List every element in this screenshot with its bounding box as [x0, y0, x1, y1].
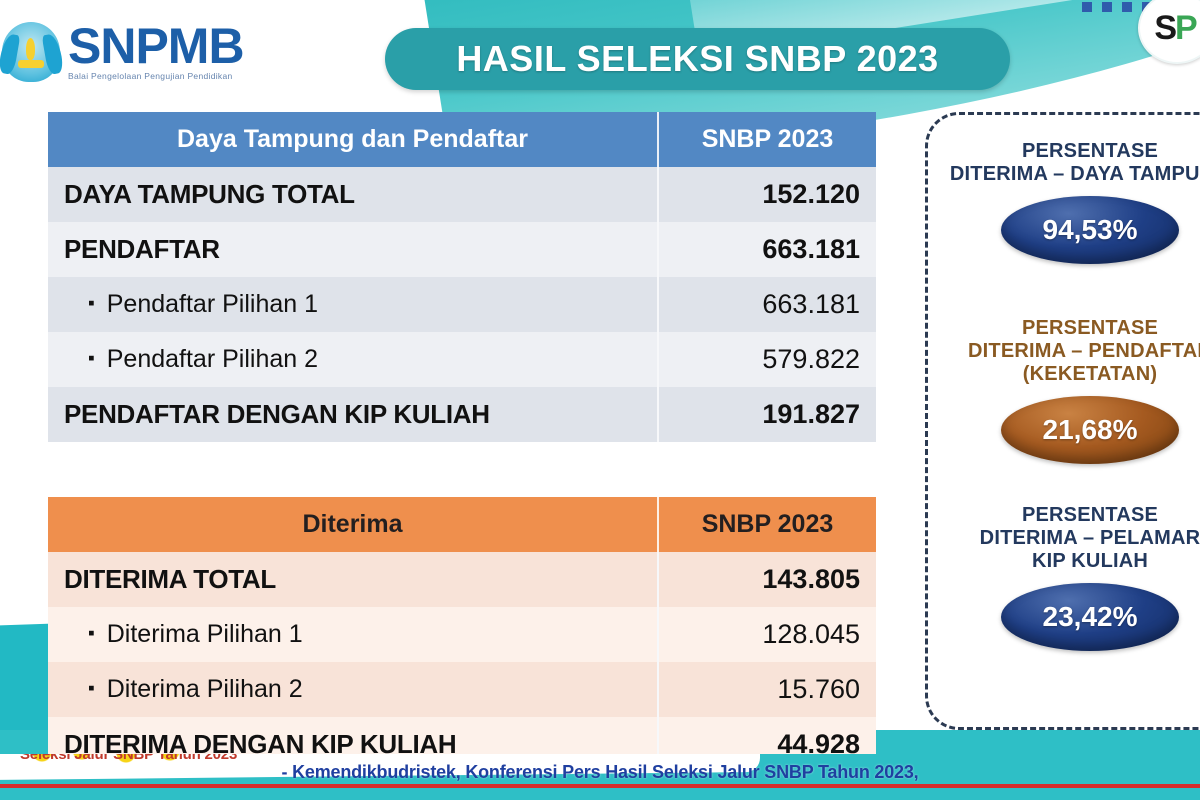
- slide-title: HASIL SELEKSI SNBP 2023: [456, 38, 938, 80]
- statistics-table: Daya Tampung dan Pendaftar SNBP 2023 DAY…: [48, 112, 876, 772]
- registration-header-label: Daya Tampung dan Pendaftar: [48, 112, 658, 167]
- kpi-caption-line1: PERSENTASE: [925, 317, 1200, 340]
- kpi-diterima-pendaftar: PERSENTASE DITERIMA – PENDAFTAR (KEKETAT…: [925, 317, 1200, 464]
- row-label: Diterima Pilihan 1: [48, 607, 658, 662]
- slide-title-banner: HASIL SELEKSI SNBP 2023: [385, 28, 1010, 90]
- table-row: DAYA TAMPUNG TOTAL 152.120: [48, 167, 876, 222]
- row-value: 15.760: [658, 662, 876, 717]
- row-value: 663.181: [658, 277, 876, 332]
- kpi-caption-line2: DITERIMA – PELAMAR: [925, 527, 1200, 550]
- row-value: 579.822: [658, 332, 876, 387]
- registration-header-value: SNBP 2023: [658, 112, 876, 167]
- kpi-value-bubble: 21,68%: [1001, 396, 1179, 464]
- kpi-value-bubble: 94,53%: [1001, 196, 1179, 264]
- kpi-caption-line2: DITERIMA – DAYA TAMPUNG: [925, 163, 1200, 186]
- row-value: 128.045: [658, 607, 876, 662]
- row-label: Pendaftar Pilihan 1: [48, 277, 658, 332]
- row-value: 152.120: [658, 167, 876, 222]
- row-label: PENDAFTAR DENGAN KIP KULIAH: [48, 387, 658, 442]
- row-label: DITERIMA TOTAL: [48, 552, 658, 607]
- table-row: PENDAFTAR 663.181: [48, 222, 876, 277]
- registration-header-row: Daya Tampung dan Pendaftar SNBP 2023: [48, 112, 876, 167]
- accepted-header-label: Diterima: [48, 497, 658, 552]
- row-label: PENDAFTAR: [48, 222, 658, 277]
- snpmb-logo: SNPMB Balai Pengelolaan Pengujian Pendid…: [0, 8, 260, 94]
- accepted-header-value: SNBP 2023: [658, 497, 876, 552]
- kpi-caption-line1: PERSENTASE: [925, 140, 1200, 163]
- row-value: 663.181: [658, 222, 876, 277]
- tutwuri-handayani-icon: [0, 18, 62, 84]
- kpi-diterima-daya-tampung: PERSENTASE DITERIMA – DAYA TAMPUNG 94,53…: [925, 140, 1200, 264]
- brand-tagline: Balai Pengelolaan Pengujian Pendidikan: [68, 71, 244, 81]
- section-gap: [48, 442, 876, 497]
- corner-logo-text: SP: [1154, 9, 1195, 48]
- table-row: Diterima Pilihan 2 15.760: [48, 662, 876, 717]
- ticker-rule: [0, 784, 1200, 788]
- table-row: Diterima Pilihan 1 128.045: [48, 607, 876, 662]
- table-row: PENDAFTAR DENGAN KIP KULIAH 191.827: [48, 387, 876, 442]
- statistics-table-container: Daya Tampung dan Pendaftar SNBP 2023 DAY…: [48, 112, 876, 730]
- table-row: Pendaftar Pilihan 2 579.822: [48, 332, 876, 387]
- slide-canvas: SNPMB Balai Pengelolaan Pengujian Pendid…: [0, 0, 1200, 800]
- accepted-header-row: Diterima SNBP 2023: [48, 497, 876, 552]
- row-label: DAYA TAMPUNG TOTAL: [48, 167, 658, 222]
- kpi-caption-line3: (KEKETATAN): [925, 363, 1200, 386]
- corner-channel-logo: SP: [1138, 0, 1200, 64]
- row-label: Diterima Pilihan 2: [48, 662, 658, 717]
- kpi-caption-line2: DITERIMA – PENDAFTAR: [925, 340, 1200, 363]
- kpi-diterima-kip-kuliah: PERSENTASE DITERIMA – PELAMAR KIP KULIAH…: [925, 504, 1200, 651]
- kpi-caption-line1: PERSENTASE: [925, 504, 1200, 527]
- kpi-caption-line3: KIP KULIAH: [925, 550, 1200, 573]
- row-value: 191.827: [658, 387, 876, 442]
- table-row: Pendaftar Pilihan 1 663.181: [48, 277, 876, 332]
- ticker-main-text: - Kemendikbudristek, Konferensi Pers Has…: [0, 762, 1200, 783]
- table-row: DITERIMA TOTAL 143.805: [48, 552, 876, 607]
- kpi-value-bubble: 23,42%: [1001, 583, 1179, 651]
- news-ticker: Seleksi Jalur SNBP Tahun 2023 - Kemendik…: [0, 754, 1200, 800]
- brand-name: SNPMB: [68, 22, 244, 70]
- row-label: Pendaftar Pilihan 2: [48, 332, 658, 387]
- row-value: 143.805: [658, 552, 876, 607]
